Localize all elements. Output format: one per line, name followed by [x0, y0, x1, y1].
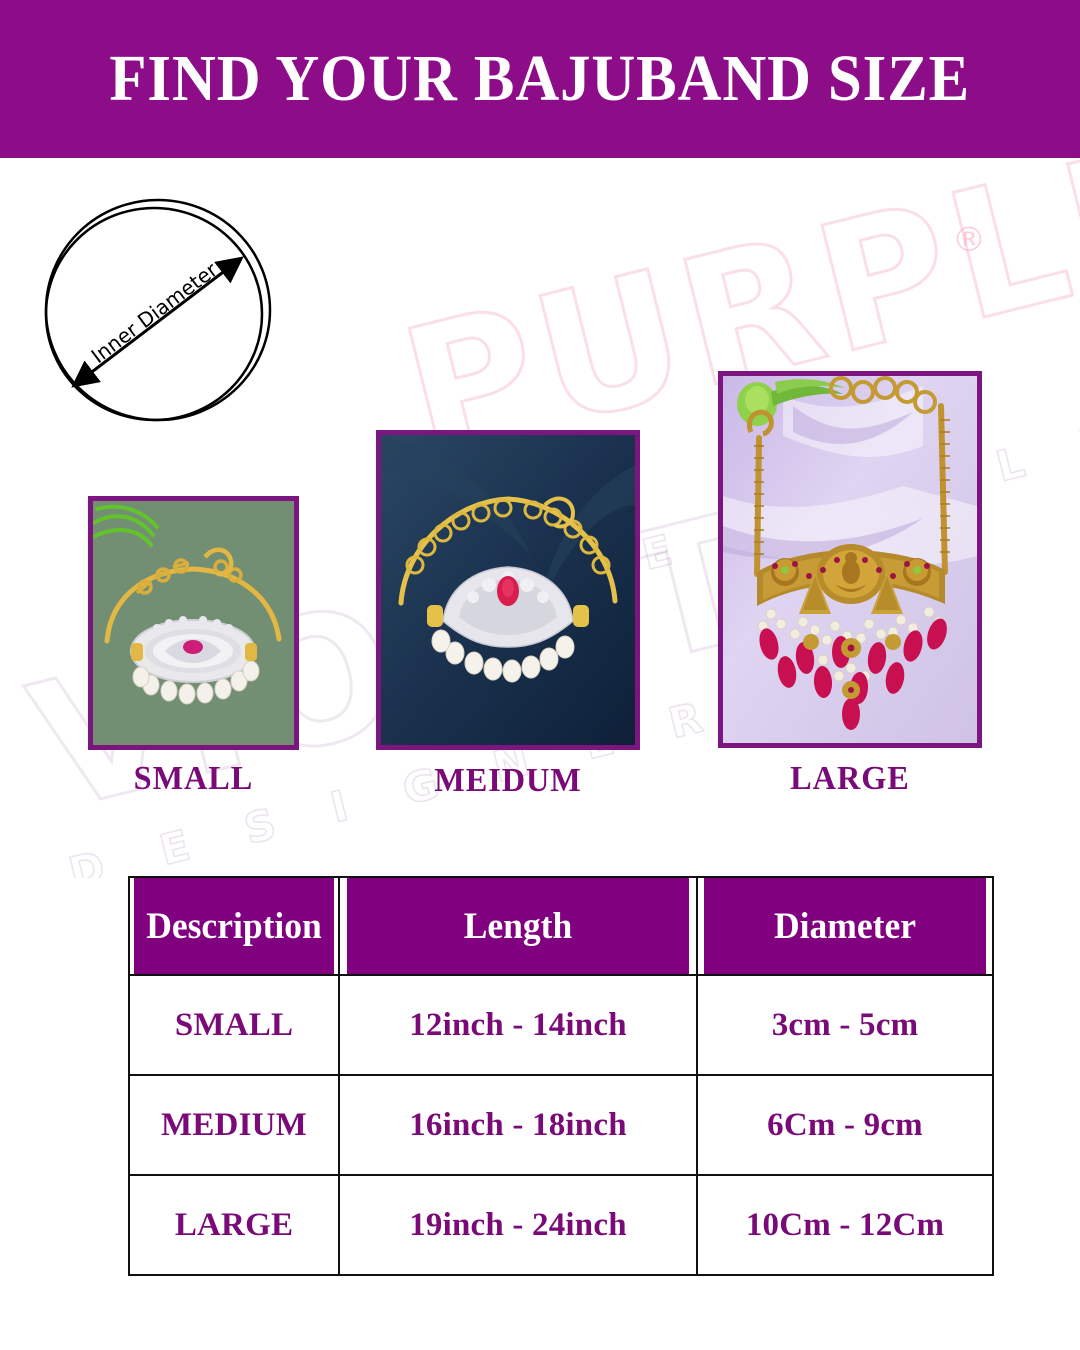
table-row: SMALL 12inch - 14inch 3cm - 5cm	[129, 975, 993, 1075]
product-label-medium: MEIDUM	[383, 762, 634, 800]
product-photo-small	[93, 501, 294, 745]
inner-diameter-label: Inner Diameter	[87, 257, 223, 368]
cell-diameter-small: 3cm - 5cm	[697, 975, 993, 1075]
cell-description-small: SMALL	[129, 975, 339, 1075]
table-row: LARGE 19inch - 24inch 10Cm - 12Cm	[129, 1175, 993, 1275]
cell-description-medium: MEDIUM	[129, 1075, 339, 1175]
product-card-small: SMALL	[88, 496, 299, 750]
product-label-small: SMALL	[93, 760, 293, 798]
column-header-description: Description	[133, 877, 335, 975]
product-image-frame-large	[718, 371, 982, 748]
cell-diameter-medium: 6Cm - 9cm	[697, 1075, 993, 1175]
product-card-large: LARGE	[718, 371, 982, 748]
cell-length-large: 19inch - 24inch	[339, 1175, 697, 1275]
header-banner: FIND YOUR BAJUBAND SIZE	[0, 0, 1080, 158]
cell-length-medium: 16inch - 18inch	[339, 1075, 697, 1175]
cell-length-small: 12inch - 14inch	[339, 975, 697, 1075]
cell-description-large: LARGE	[129, 1175, 339, 1275]
page-title: FIND YOUR BAJUBAND SIZE	[110, 41, 971, 117]
cell-diameter-large: 10Cm - 12Cm	[697, 1175, 993, 1275]
registered-mark-icon: ®	[952, 220, 986, 260]
inner-diameter-diagram: Inner Diameter	[36, 192, 286, 432]
size-chart-table: Description Length Diameter SMALL 12inch…	[128, 876, 994, 1276]
table-row: MEDIUM 16inch - 18inch 6Cm - 9cm	[129, 1075, 993, 1175]
product-photo-large	[723, 376, 977, 743]
product-label-large: LARGE	[725, 760, 976, 798]
product-image-frame-medium	[376, 430, 640, 750]
product-image-frame-small	[88, 496, 299, 750]
column-header-diameter: Diameter	[703, 877, 987, 975]
column-header-length: Length	[346, 877, 690, 975]
table-header-row: Description Length Diameter	[129, 877, 993, 975]
product-card-medium: MEIDUM	[376, 430, 640, 750]
product-photo-medium	[381, 435, 635, 745]
